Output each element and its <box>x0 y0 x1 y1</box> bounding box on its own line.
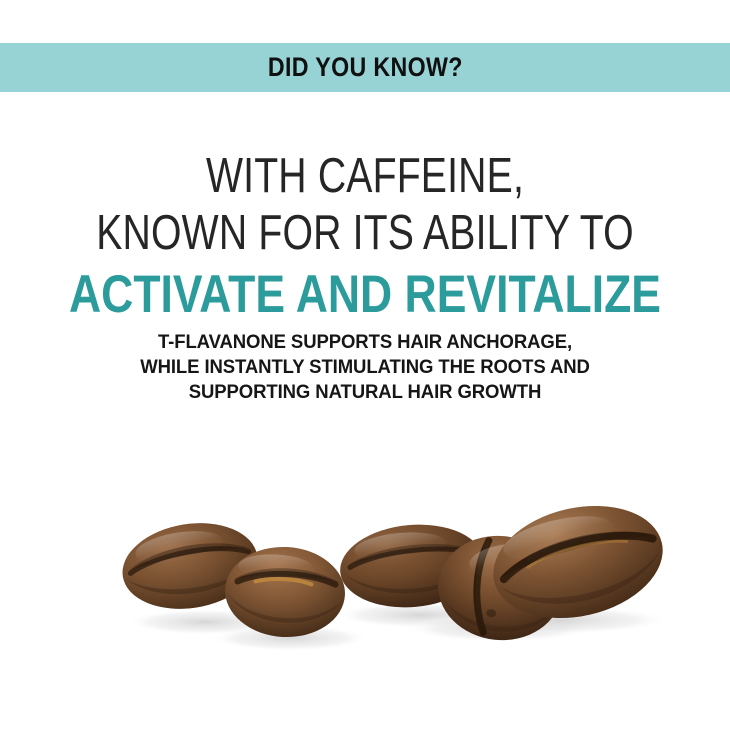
coffee-beans-illustration <box>0 470 730 700</box>
coffee-beans-photo <box>0 470 730 700</box>
headline-line-2: KNOWN FOR ITS ABILITY TO <box>73 205 657 262</box>
subcopy-block: T-FLAVANONE SUPPORTS HAIR ANCHORAGE, WHI… <box>0 330 730 405</box>
headline-accent-line: ACTIVATE AND REVITALIZE <box>58 262 671 326</box>
subcopy-line-1: T-FLAVANONE SUPPORTS HAIR ANCHORAGE, <box>18 330 712 355</box>
subcopy-line-2: WHILE INSTANTLY STIMULATING THE ROOTS AN… <box>18 355 712 380</box>
headline-block: WITH CAFFEINE, KNOWN FOR ITS ABILITY TO … <box>0 148 730 326</box>
banner-title: DID YOU KNOW? <box>268 52 463 83</box>
subcopy-line-3: SUPPORTING NATURAL HAIR GROWTH <box>18 380 712 405</box>
did-you-know-banner: DID YOU KNOW? <box>0 43 730 92</box>
headline-line-1: WITH CAFFEINE, <box>73 148 657 205</box>
promo-card: DID YOU KNOW? WITH CAFFEINE, KNOWN FOR I… <box>0 0 730 730</box>
